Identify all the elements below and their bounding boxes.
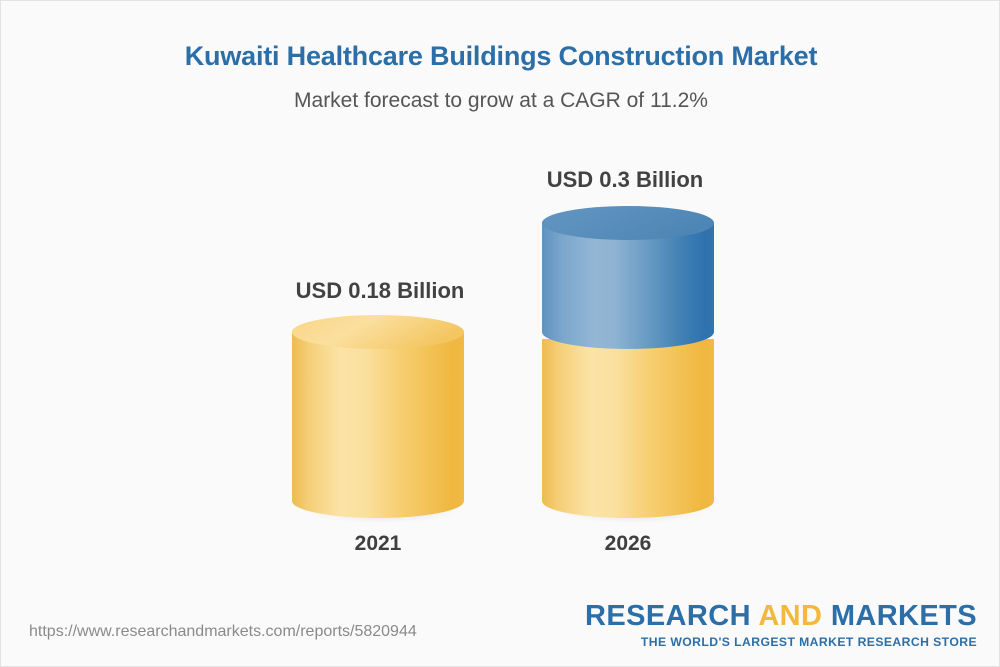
cylinder-segment-base-2026 bbox=[542, 339, 714, 518]
cylinder-top-2026 bbox=[542, 206, 714, 240]
cylinder-top-2021 bbox=[292, 315, 464, 349]
brand-tagline: THE WORLD'S LARGEST MARKET RESEARCH STOR… bbox=[585, 636, 977, 648]
brand-logo[interactable]: RESEARCH AND MARKETS THE WORLD'S LARGEST… bbox=[585, 602, 977, 648]
bar-value-label-2021: USD 0.18 Billion bbox=[230, 278, 530, 304]
cylinder-bar-2021[interactable] bbox=[287, 311, 469, 526]
brand-name-and: AND bbox=[758, 600, 831, 632]
infographic-canvas: Kuwaiti Healthcare Buildings Constructio… bbox=[0, 0, 1000, 667]
brand-name: RESEARCH AND MARKETS bbox=[585, 602, 977, 631]
cylinder-bar-2026[interactable] bbox=[537, 202, 719, 526]
brand-name-markets: MARKETS bbox=[831, 600, 977, 632]
report-url[interactable]: https://www.researchandmarkets.com/repor… bbox=[29, 623, 417, 641]
cylinder-segment-growth-2026 bbox=[542, 223, 714, 349]
bar-category-label-2026: 2026 bbox=[478, 532, 778, 556]
chart-plot-area: USD 0.18 Billion bbox=[1, 1, 1000, 601]
brand-name-research: RESEARCH bbox=[585, 600, 758, 632]
bar-value-label-2026: USD 0.3 Billion bbox=[475, 167, 775, 193]
cylinder-body-2021 bbox=[292, 332, 464, 518]
